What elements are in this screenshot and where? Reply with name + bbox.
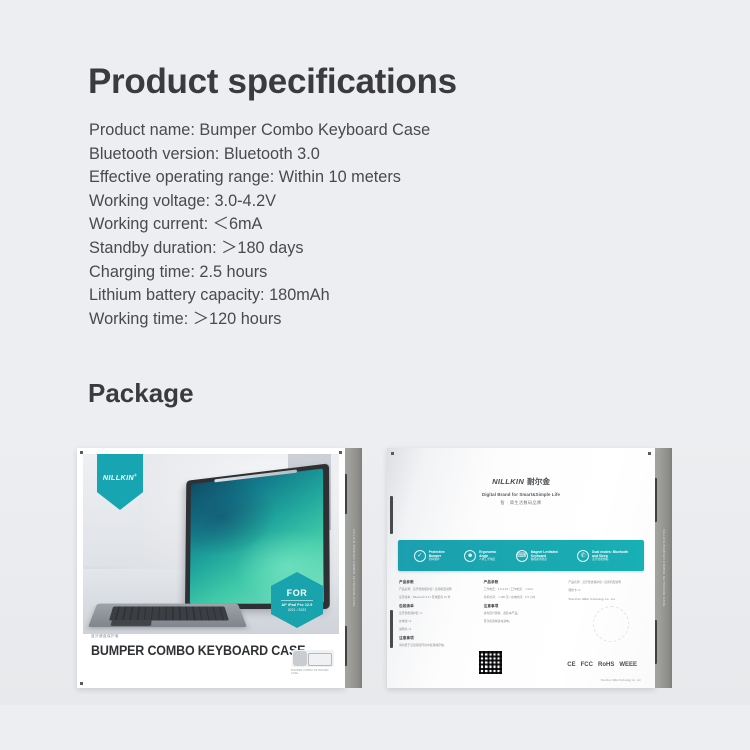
spine-text: NILLKIN BUMPER COMBO KEYBOARD CASE [352, 529, 356, 607]
column-paragraph: 工作电压：3.0-4.2V / 工作电流：＜6mA [484, 587, 559, 591]
column-paragraph: 说明书 ×1 [399, 627, 474, 631]
specification-list: Product name: Bumper Combo Keyboard Case… [89, 119, 430, 331]
brand-name: NILLKIN® [103, 473, 137, 482]
column-paragraph: 充电线 ×1 [399, 619, 474, 623]
emboss-circle [593, 606, 629, 642]
feature-item: ⌨ Magnet Levitated Keyboard 磁吸悬浮键盘 [516, 550, 558, 562]
column-paragraph: 产品名称：蓝牙键盘保护套 / 适用机型说明 [399, 587, 474, 591]
spec-item: Lithium battery capacity: 180mAh [89, 284, 430, 308]
column-title: 注意事项 [399, 636, 474, 641]
package-heading: Package [88, 378, 194, 409]
column-paragraph: 保修卡 ×1 [568, 588, 643, 592]
keyboard-trackpad [111, 620, 152, 626]
box-spine-right: NILLKIN BUMPER COMBO KEYBOARD CASE [655, 448, 672, 688]
column-title: 产品参数 [484, 580, 559, 585]
feature-text: Magnet Levitated Keyboard 磁吸悬浮键盘 [531, 550, 558, 562]
column-paragraph: 首次使用前请充满电。 [484, 619, 559, 623]
column-title: 包装清单 [399, 604, 474, 609]
registration-tick [80, 682, 83, 685]
mini-caption: BUMPER COMBO KEYBOARD CASE [291, 669, 335, 675]
keyboard-illustration [88, 603, 247, 627]
cover-cn-caption: 蓝牙键盘保护套 [91, 634, 333, 639]
back-brand-logo: NILLKIN耐尔金 [395, 476, 647, 487]
badge-year: 2021 / 2022 [288, 609, 307, 613]
spec-item: Standby duration: ＞180 days [89, 237, 430, 261]
package-box-back: NILLKIN BUMPER COMBO KEYBOARD CASE NILLK… [387, 448, 672, 688]
cover-title: BUMPER COMBO KEYBOARD CASE [91, 643, 316, 658]
cover-footer: 蓝牙键盘保护套 BUMPER COMBO KEYBOARD CASE BUMPE… [91, 634, 333, 678]
cert-rohs: RoHS [598, 662, 614, 668]
qr-code-icon [479, 651, 502, 674]
spec-item: Product name: Bumper Combo Keyboard Case [89, 119, 430, 143]
text-column: 产品参数 产品名称：蓝牙键盘保护套 / 适用机型说明 蓝牙版本：Bluetoot… [399, 580, 474, 678]
feature-text: Protective Bumper 防摔保护 [429, 550, 445, 562]
feature-text: Ergonomic Angle 人体工学角度 [479, 550, 496, 562]
spec-item: Working current: ＜6mA [89, 213, 430, 237]
feature-item: ✆ Dual modes: Bluetooth and Sleep 蓝牙智能休眠 [577, 550, 628, 562]
box-front-face: NILLKIN® FOR AP iPad Pro 12.9 2021 / 202… [77, 448, 345, 688]
badge-label: FOR [287, 588, 308, 598]
mini-product-icon: BUMPER COMBO KEYBOARD CASE [291, 650, 335, 676]
spec-item: Working voltage: 3.0-4.2V [89, 190, 430, 214]
spec-item: Working time: ＞120 hours [89, 308, 430, 332]
column-paragraph: 待机时间：＞180 天 / 充电时间：2.5 小时 [484, 595, 559, 599]
feature-text: Dual modes: Bluetooth and Sleep 蓝牙智能休眠 [592, 550, 628, 562]
person-icon: ☻ [464, 550, 476, 562]
column-paragraph: 请勿置于高温潮湿环境中使用或存放。 [399, 643, 474, 647]
column-title: 注意事项 [484, 604, 559, 609]
column-paragraph: 产品名称：蓝牙键盘保护套 / 适用机型说明 [568, 580, 643, 584]
column-paragraph: 蓝牙键盘保护套 ×1 [399, 611, 474, 615]
spine-text: NILLKIN BUMPER COMBO KEYBOARD CASE [662, 529, 666, 607]
manufacturer-text: Shenzhen Nillkin Technology Co., Ltd. [568, 597, 643, 601]
feature-item: ☻ Ergonomic Angle 人体工学角度 [464, 550, 496, 562]
column-paragraph: 蓝牙版本：Bluetooth 3.0 / 有效距离 10 米 [399, 595, 474, 599]
bluetooth-icon: ✆ [577, 550, 589, 562]
back-panel-content: NILLKIN耐尔金 Digital Brand for Smart&Simpl… [387, 448, 655, 688]
column-paragraph: 请勿自行拆解、改装本产品。 [484, 611, 559, 615]
spec-item: Effective operating range: Within 10 met… [89, 166, 430, 190]
cert-weee: WEEE [619, 662, 637, 668]
registration-tick [339, 451, 342, 454]
page-title: Product specifications [88, 62, 457, 102]
product-silhouette-icon [292, 650, 334, 667]
spec-item: Charging time: 2.5 hours [89, 261, 430, 285]
badge-divider [281, 600, 312, 601]
cert-ce: CE [567, 662, 575, 668]
feature-item: ✓ Protective Bumper 防摔保护 [414, 550, 445, 562]
brand-tagline-cn: 智 · 简生活数码品牌 [395, 500, 647, 506]
cert-fcc: FCC [581, 662, 593, 668]
brand-tagline-en: Digital Brand for Smart&Simple Life [395, 492, 647, 497]
package-box-front: NILLKIN BUMPER COMBO KEYBOARD CASE [77, 448, 362, 688]
box-back-face: NILLKIN耐尔金 Digital Brand for Smart&Simpl… [387, 448, 655, 688]
feature-strip: ✓ Protective Bumper 防摔保护 ☻ Ergonomic [398, 540, 644, 571]
shield-check-icon: ✓ [414, 550, 426, 562]
box-spine-left: NILLKIN BUMPER COMBO KEYBOARD CASE [345, 448, 362, 688]
manufacturer-address: Shenzhen Nillkin Technology Co., Ltd. [601, 679, 641, 683]
certification-marks: CE FCC RoHS WEEE [567, 662, 637, 668]
spec-item: Bluetooth version: Bluetooth 3.0 [89, 143, 430, 167]
column-title: 产品参数 [399, 580, 474, 585]
badge-model: AP iPad Pro 12.9 [282, 603, 313, 607]
keyboard-keys [109, 606, 229, 620]
product-spec-page: Product specifications Product name: Bum… [0, 0, 750, 750]
package-photo: NILLKIN BUMPER COMBO KEYBOARD CASE [0, 430, 750, 705]
cover-photo: NILLKIN® FOR AP iPad Pro 12.9 2021 / 202… [83, 454, 339, 634]
keyboard-icon: ⌨ [516, 550, 528, 562]
